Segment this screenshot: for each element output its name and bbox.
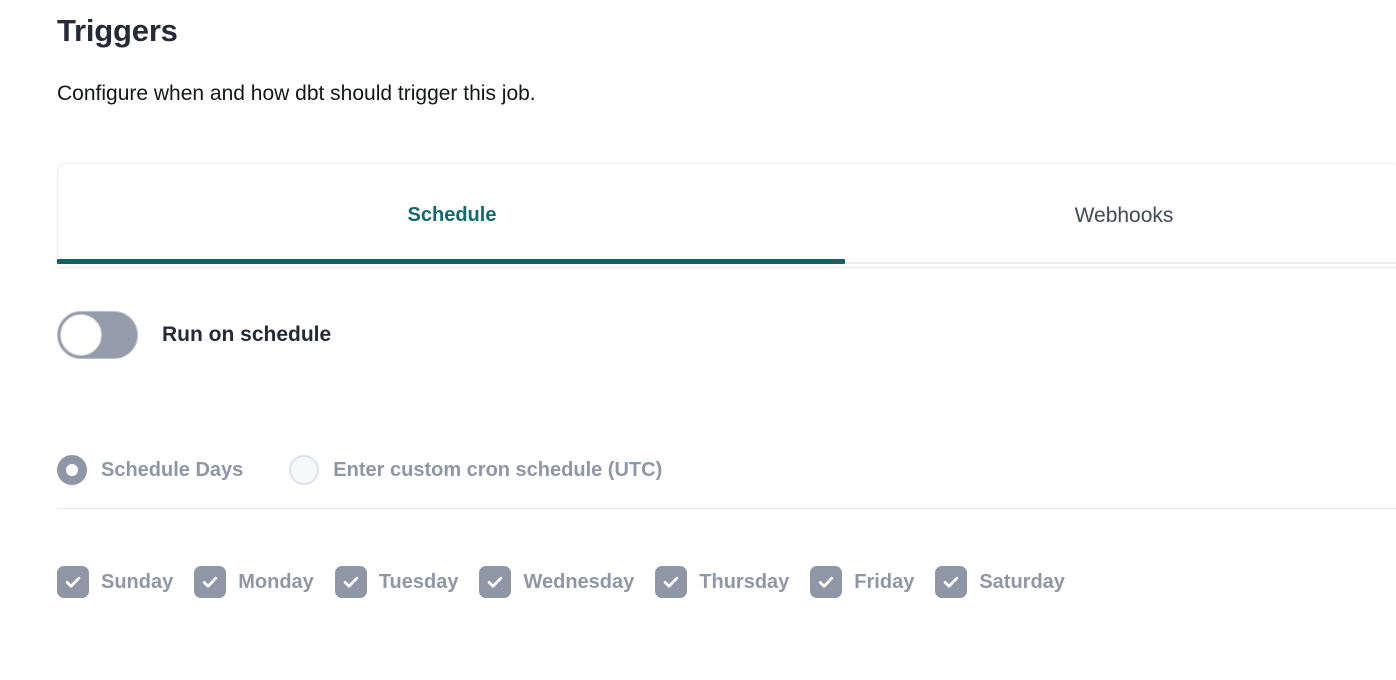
section-divider xyxy=(57,508,1396,509)
day-label-friday: Friday xyxy=(854,571,914,594)
day-checkbox-thursday[interactable]: Thursday xyxy=(655,566,789,598)
toggle-knob xyxy=(60,314,102,356)
check-icon xyxy=(935,566,967,598)
check-icon xyxy=(335,566,367,598)
day-label-thursday: Thursday xyxy=(699,571,789,594)
day-checkbox-monday[interactable]: Monday xyxy=(194,566,314,598)
check-icon xyxy=(479,566,511,598)
day-checkbox-sunday[interactable]: Sunday xyxy=(57,566,173,598)
day-checkbox-wednesday[interactable]: Wednesday xyxy=(479,566,634,598)
day-label-sunday: Sunday xyxy=(101,571,173,594)
tab-strip: Schedule Webhooks xyxy=(58,164,1396,267)
day-label-wednesday: Wednesday xyxy=(523,571,634,594)
radio-label-schedule-days: Schedule Days xyxy=(101,459,243,482)
page-subtitle: Configure when and how dbt should trigge… xyxy=(57,80,536,107)
day-label-saturday: Saturday xyxy=(979,571,1065,594)
triggers-tab-card: Schedule Webhooks xyxy=(57,163,1396,268)
check-icon xyxy=(655,566,687,598)
tab-active-indicator xyxy=(57,259,845,264)
day-checkbox-tuesday[interactable]: Tuesday xyxy=(335,566,459,598)
schedule-mode-radio-group: Schedule Days Enter custom cron schedule… xyxy=(57,455,662,485)
check-icon xyxy=(810,566,842,598)
run-on-schedule-row: Run on schedule xyxy=(57,311,331,359)
run-on-schedule-label: Run on schedule xyxy=(162,323,331,347)
tab-schedule-label: Schedule xyxy=(408,204,497,227)
day-checkbox-saturday[interactable]: Saturday xyxy=(935,566,1065,598)
check-icon xyxy=(57,566,89,598)
page-title: Triggers xyxy=(57,12,178,49)
radio-unselected-icon xyxy=(289,455,319,485)
radio-label-custom-cron: Enter custom cron schedule (UTC) xyxy=(333,459,662,482)
tab-schedule[interactable]: Schedule xyxy=(58,164,846,267)
tab-webhooks-label: Webhooks xyxy=(1075,204,1174,228)
day-label-tuesday: Tuesday xyxy=(379,571,459,594)
schedule-days-row: Sunday Monday Tuesday xyxy=(57,566,1065,598)
tab-webhooks[interactable]: Webhooks xyxy=(846,164,1396,267)
day-checkbox-friday[interactable]: Friday xyxy=(810,566,914,598)
radio-selected-icon xyxy=(57,455,87,485)
check-icon xyxy=(194,566,226,598)
day-label-monday: Monday xyxy=(238,571,314,594)
radio-option-schedule-days[interactable]: Schedule Days xyxy=(57,455,243,485)
run-on-schedule-toggle[interactable] xyxy=(57,311,138,359)
triggers-page: Triggers Configure when and how dbt shou… xyxy=(0,0,1396,680)
radio-option-custom-cron[interactable]: Enter custom cron schedule (UTC) xyxy=(289,455,662,485)
